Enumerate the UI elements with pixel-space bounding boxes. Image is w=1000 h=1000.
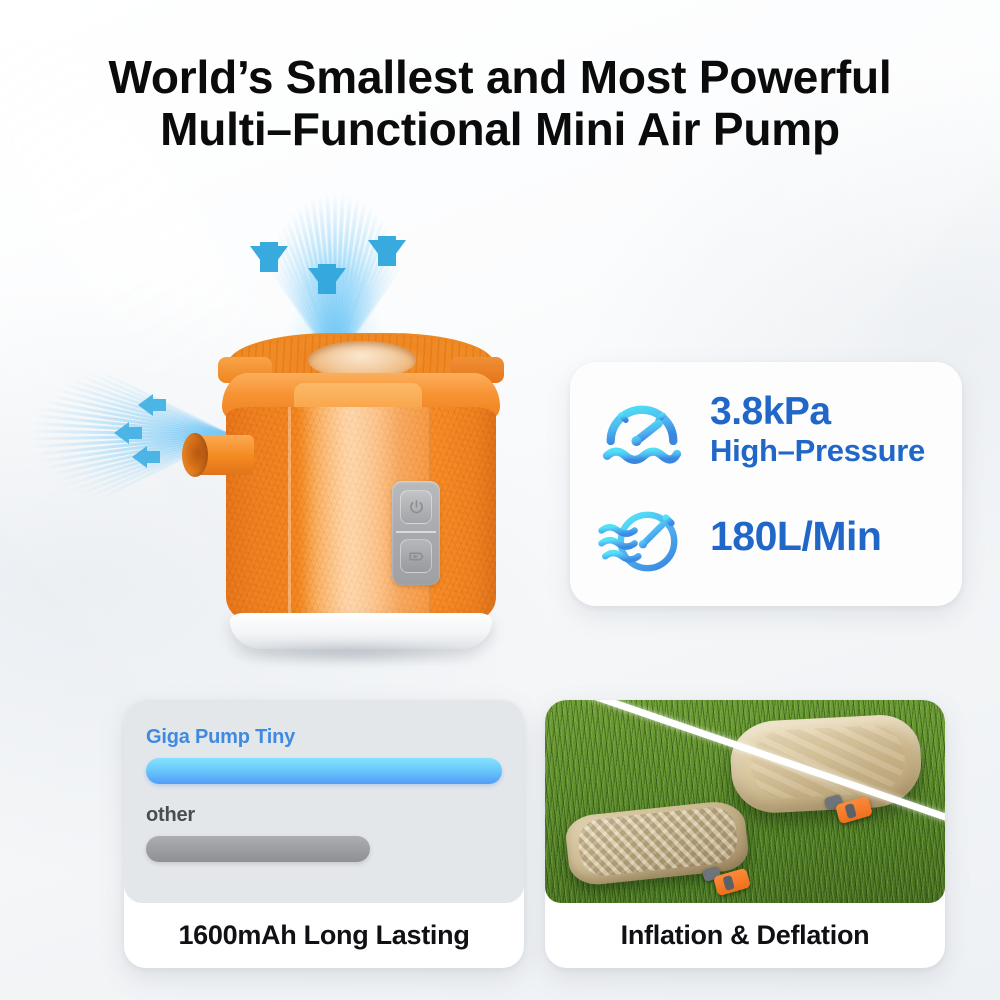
spec-text-pressure: 3.8kPa High–Pressure [710,392,925,469]
headline-line-2: Multi–Functional Mini Air Pump [0,104,1000,156]
spec-text-flow: 180L/Min [710,513,881,560]
bar-track-other [146,836,502,862]
battery-bar-chart: Giga Pump Tiny other [124,700,524,903]
power-button[interactable] [400,490,432,524]
product-shadow [218,640,480,666]
specification-card: 3.8kPa High–Pressure [570,362,962,606]
product-illustration [176,188,536,688]
intake-arrow [250,246,288,272]
chart-row-spacer [146,784,502,804]
bar-other [146,836,370,862]
pressure-gauge-icon [596,384,688,476]
page-title: World’s Smallest and Most Powerful Multi… [0,52,1000,155]
pillow-grass-photo [545,700,945,903]
power-icon [401,491,431,523]
pump-body [226,407,496,623]
exhaust-arrow [132,446,147,468]
lamp-icon [401,540,431,572]
nozzle-opening [182,433,208,477]
battery-card-caption: 1600mAh Long Lasting [124,903,524,968]
button-divider [396,531,436,533]
battery-comparison-card: Giga Pump Tiny other 1600mAh Long Lastin… [124,700,524,968]
inflation-deflation-card: Inflation & Deflation [545,700,945,968]
light-button[interactable] [400,539,432,573]
photo-card-caption: Inflation & Deflation [545,903,945,968]
exhaust-arrow [114,422,129,444]
bar-label-giga-pump: Giga Pump Tiny [146,726,502,749]
intake-arrow [368,240,406,266]
spec-value-flow: 180L/Min [710,513,881,560]
bar-track-giga-pump [146,758,502,784]
air-pump-device [216,333,506,663]
pump-button-panel [392,481,440,585]
spec-row-flow: 180L/Min [596,490,881,582]
headline-line-1: World’s Smallest and Most Powerful [109,51,892,103]
exhaust-arrow [138,394,153,416]
spec-value-pressure: 3.8kPa [710,392,925,433]
stopwatch-waves-icon [596,490,688,582]
pump-body-edge-left [288,407,291,623]
bar-giga-pump [146,758,502,784]
bar-label-other: other [146,804,502,827]
spec-label-pressure: High–Pressure [710,433,925,469]
spec-row-pressure: 3.8kPa High–Pressure [596,384,925,476]
intake-arrow [308,268,346,294]
